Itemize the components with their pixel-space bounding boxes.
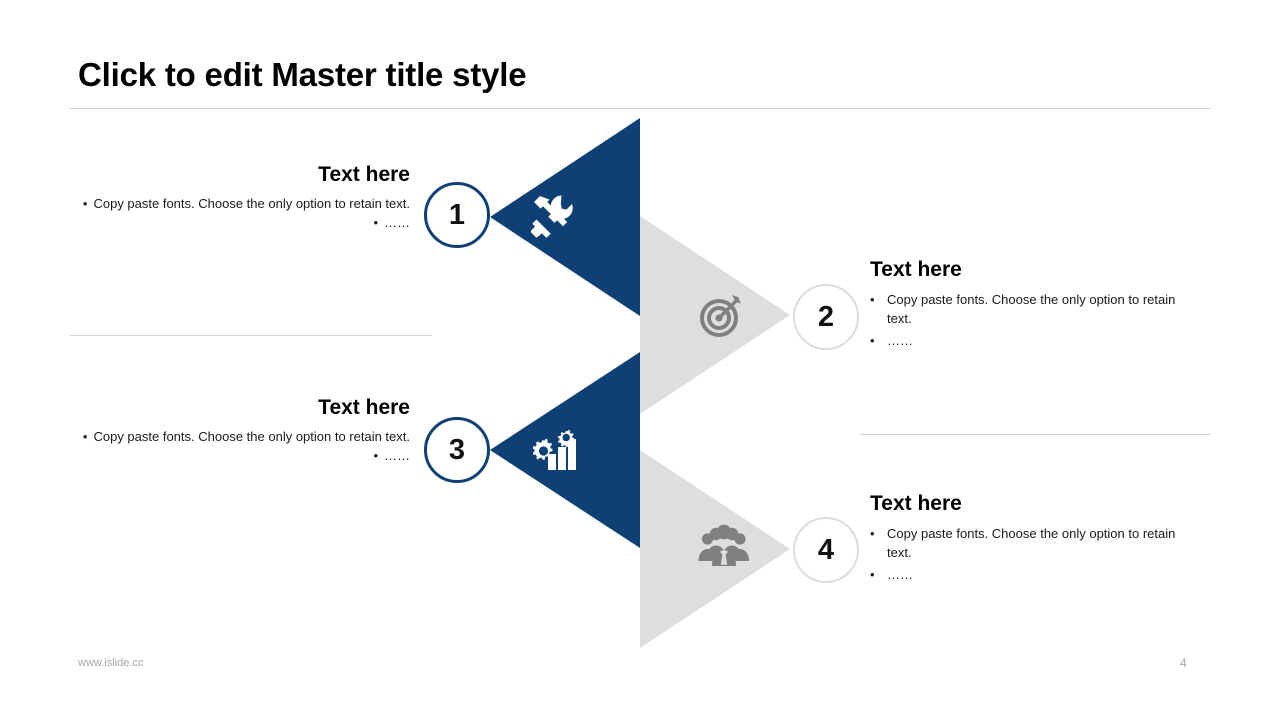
bullet-glyph: •: [870, 566, 875, 585]
step-3-bullet-list: •Copy paste fonts. Choose the only optio…: [72, 428, 410, 466]
step-2-heading[interactable]: Text here: [870, 258, 1200, 281]
page-number: 4: [1180, 656, 1187, 670]
step-1-heading[interactable]: Text here: [72, 163, 410, 186]
bullet-glyph: •: [870, 332, 875, 351]
step-4-number: 4: [818, 534, 834, 567]
tools-icon: [531, 193, 579, 244]
right-divider-middle: [860, 434, 1210, 435]
step-4-heading[interactable]: Text here: [870, 492, 1200, 515]
title-divider: [70, 108, 1210, 109]
page-title[interactable]: Click to edit Master title style: [78, 56, 526, 94]
slide-canvas: Click to edit Master title style 1: [0, 0, 1280, 720]
list-item[interactable]: •Copy paste fonts. Choose the only optio…: [870, 291, 1200, 329]
list-item[interactable]: •Copy paste fonts. Choose the only optio…: [870, 525, 1200, 563]
list-item[interactable]: •Copy paste fonts. Choose the only optio…: [72, 428, 410, 447]
step-2-bullet-1: Copy paste fonts. Choose the only option…: [887, 292, 1175, 326]
list-item[interactable]: •……: [870, 566, 1200, 585]
bullet-glyph: •: [870, 291, 875, 310]
list-item[interactable]: •……: [870, 332, 1200, 351]
step-3-number-circle[interactable]: 3: [424, 417, 490, 483]
step-3-heading[interactable]: Text here: [72, 396, 410, 419]
bullet-glyph: •: [373, 214, 378, 233]
bullet-glyph: •: [373, 447, 378, 466]
step-3-text-block: Text here •Copy paste fonts. Choose the …: [72, 396, 410, 466]
bullet-glyph: •: [870, 525, 875, 544]
step-1-bullet-list: •Copy paste fonts. Choose the only optio…: [72, 195, 410, 233]
step-1-bullet-1: Copy paste fonts. Choose the only option…: [93, 196, 410, 211]
people-group-icon: [698, 524, 750, 573]
footer-url[interactable]: www.islide.cc: [78, 657, 143, 669]
step-1-number: 1: [449, 199, 465, 232]
step-3-number: 3: [449, 434, 465, 467]
left-divider-top: [70, 335, 432, 336]
step-4-bullet-1: Copy paste fonts. Choose the only option…: [887, 526, 1175, 560]
step-4-bullet-2: ……: [887, 567, 913, 582]
list-item[interactable]: •……: [72, 214, 410, 233]
step-4-number-circle[interactable]: 4: [793, 517, 859, 583]
step-4-text-block: Text here •Copy paste fonts. Choose the …: [870, 492, 1200, 588]
step-2-number: 2: [818, 301, 834, 334]
step-1-bullet-2: ……: [384, 215, 410, 230]
step-1-number-circle[interactable]: 1: [424, 182, 490, 248]
bullet-glyph: •: [83, 428, 88, 447]
list-item[interactable]: •Copy paste fonts. Choose the only optio…: [72, 195, 410, 214]
bullet-glyph: •: [83, 195, 88, 214]
step-3-bullet-2: ……: [384, 448, 410, 463]
step-2-bullet-2: ……: [887, 333, 913, 348]
bar-chart-gears-icon: [533, 428, 579, 477]
step-2-text-block: Text here •Copy paste fonts. Choose the …: [870, 258, 1200, 354]
step-4-bullet-list: •Copy paste fonts. Choose the only optio…: [870, 525, 1200, 585]
step-2-number-circle[interactable]: 2: [793, 284, 859, 350]
list-item[interactable]: •……: [72, 447, 410, 466]
step-3-bullet-1: Copy paste fonts. Choose the only option…: [93, 429, 410, 444]
step-1-text-block: Text here •Copy paste fonts. Choose the …: [72, 163, 410, 233]
target-icon: [699, 292, 746, 343]
step-2-bullet-list: •Copy paste fonts. Choose the only optio…: [870, 291, 1200, 351]
